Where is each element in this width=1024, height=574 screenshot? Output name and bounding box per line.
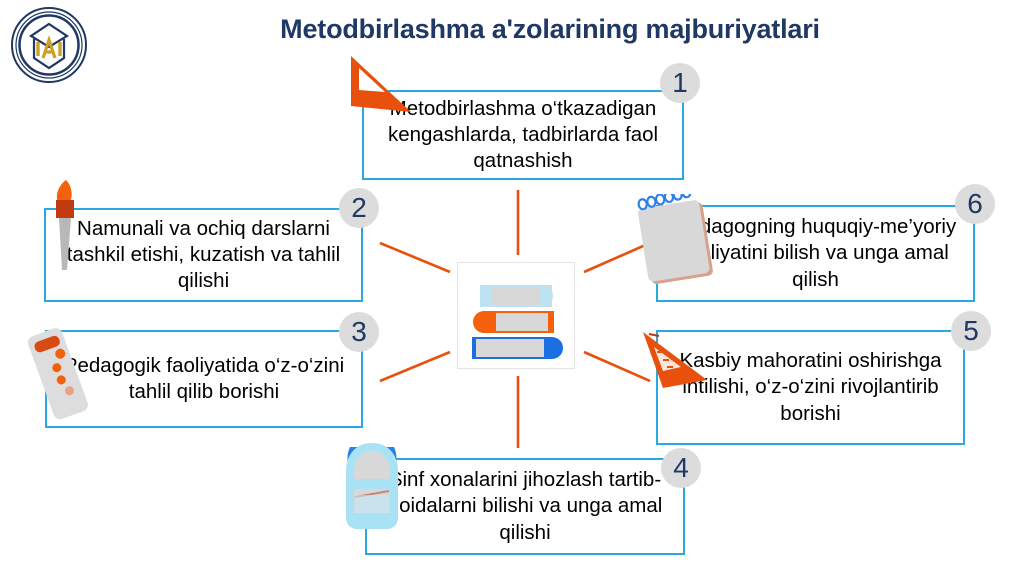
remote-control-icon — [18, 324, 96, 424]
institute-emblem-logo — [10, 6, 88, 84]
paintbrush-icon — [46, 178, 86, 272]
page-title: Metodbirlashma a'zolarining majburiyatla… — [150, 14, 950, 45]
item-badge-6: 6 — [955, 184, 995, 224]
item-badge-5: 5 — [951, 311, 991, 351]
item-badge-4: 4 — [661, 448, 701, 488]
item-badge-3: 3 — [339, 312, 379, 352]
slide-canvas: Metodbirlashma a'zolarining majburiyatla… — [0, 0, 1024, 574]
item-box-2-text: Namunali va ochiq darslarni tashkil etis… — [52, 216, 355, 294]
books-stack-icon — [457, 262, 575, 369]
backpack-icon — [336, 437, 408, 537]
triangle-ruler-icon — [345, 54, 417, 114]
item-badge-2: 2 — [339, 188, 379, 228]
triangle-ruler-icon — [637, 330, 711, 392]
spiral-notepad-icon — [636, 194, 722, 290]
item-badge-1: 1 — [660, 63, 700, 103]
item-box-4[interactable]: Sinf xonalarini jihozlash tartib-qoidala… — [365, 458, 685, 555]
item-box-3-text: Pedagogik faoliyatida o‘z-o‘zini tahlil … — [53, 353, 355, 405]
item-box-4-text: Sinf xonalarini jihozlash tartib-qoidala… — [373, 467, 677, 545]
item-box-2[interactable]: Namunali va ochiq darslarni tashkil etis… — [44, 208, 363, 302]
